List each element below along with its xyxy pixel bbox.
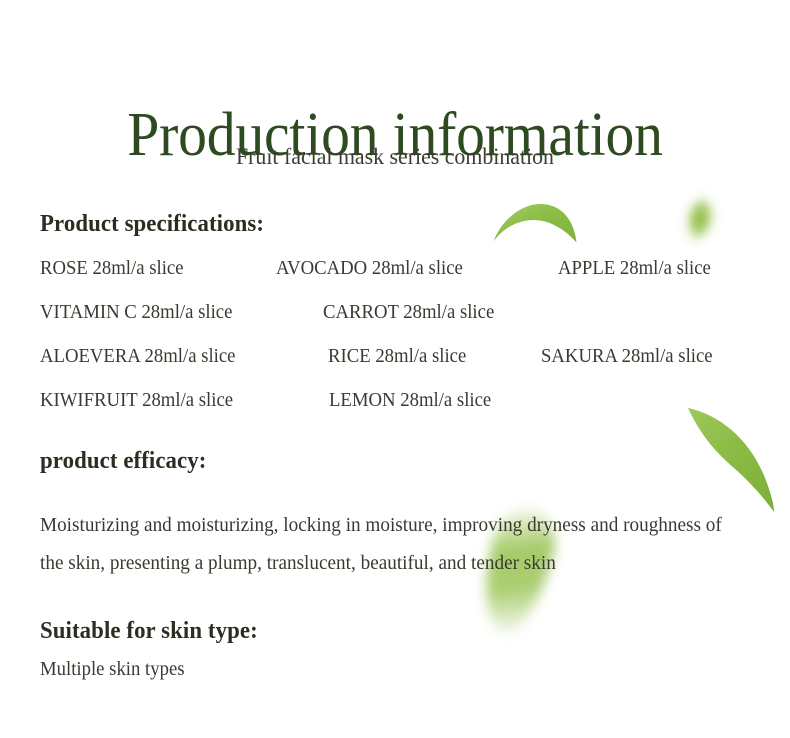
spec-item: KIWIFRUIT 28ml/a slice bbox=[40, 390, 233, 412]
specifications-heading: Product specifications: bbox=[40, 211, 264, 238]
product-info-page: Production information Fruit facial mask… bbox=[0, 0, 790, 738]
spec-item: ROSE 28ml/a slice bbox=[40, 258, 184, 280]
spec-item: AVOCADO 28ml/a slice bbox=[276, 258, 463, 280]
spec-row: VITAMIN C 28ml/a slice CARROT 28ml/a sli… bbox=[40, 302, 760, 346]
spec-row: KIWIFRUIT 28ml/a slice LEMON 28ml/a slic… bbox=[40, 390, 760, 434]
spec-item: ALOEVERA 28ml/a slice bbox=[40, 346, 235, 368]
spec-item: RICE 28ml/a slice bbox=[328, 346, 466, 368]
spec-item: CARROT 28ml/a slice bbox=[323, 302, 494, 324]
spec-item: LEMON 28ml/a slice bbox=[329, 390, 491, 412]
efficacy-heading: product efficacy: bbox=[40, 448, 206, 475]
page-subtitle: Fruit facial mask series combination bbox=[20, 143, 771, 171]
skin-type-heading: Suitable for skin type: bbox=[40, 618, 258, 645]
spec-row: ROSE 28ml/a slice AVOCADO 28ml/a slice A… bbox=[40, 258, 760, 302]
page-content: Production information Fruit facial mask… bbox=[0, 0, 790, 738]
skin-type-value: Multiple skin types bbox=[40, 659, 185, 681]
spec-row: ALOEVERA 28ml/a slice RICE 28ml/a slice … bbox=[40, 346, 760, 390]
specifications-list: ROSE 28ml/a slice AVOCADO 28ml/a slice A… bbox=[40, 258, 760, 434]
spec-item: VITAMIN C 28ml/a slice bbox=[40, 302, 232, 324]
spec-item: APPLE 28ml/a slice bbox=[558, 258, 711, 280]
spec-item: SAKURA 28ml/a slice bbox=[541, 346, 713, 368]
efficacy-body: Moisturizing and moisturizing, locking i… bbox=[40, 507, 743, 583]
